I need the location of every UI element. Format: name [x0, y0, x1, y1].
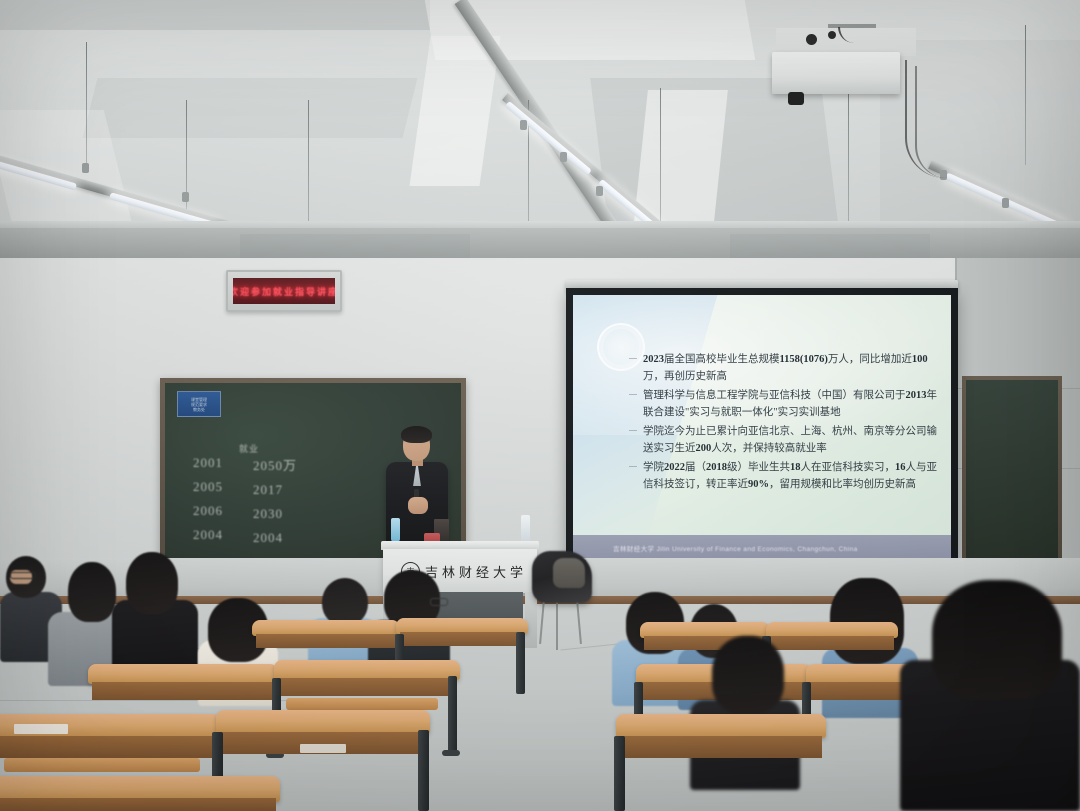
bag-on-chair [553, 558, 585, 588]
desk-leg [614, 736, 625, 811]
slide-emphasis: 2013 [906, 390, 927, 401]
desk-leg [448, 676, 457, 754]
bullet-dash-icon [629, 358, 637, 359]
blackboard-right-panel [962, 376, 1062, 562]
bullet-dash-icon [629, 466, 637, 467]
blackboard-right-surface [966, 380, 1058, 558]
classroom-photo: 欢迎参加就业指导讲座 课堂管理规范要求教务处 就业 2001 2005 2006… [0, 0, 1080, 811]
lecture-desk-front [256, 634, 396, 648]
podium-university-name: 吉林财经大学 [425, 562, 527, 581]
chalk-right-column: 2050万 2017 2030 2004 [253, 455, 297, 546]
lecture-desk-front [278, 678, 456, 696]
podium-leg [525, 592, 537, 648]
chalk-header: 就业 [239, 442, 259, 455]
paper-sheet [14, 724, 68, 734]
desk-foot [442, 750, 460, 756]
light-clamp [560, 152, 567, 162]
chair-leg [556, 600, 558, 650]
eyeglasses-icon [430, 598, 448, 606]
fluorescent-tube [505, 101, 592, 176]
chalk-value: 2030 [253, 506, 297, 522]
lecture-desk [216, 710, 430, 734]
projector [772, 52, 900, 94]
slide-text: 级）毕业生共 [727, 462, 790, 473]
slide-bullet: 管理科学与信息工程学院与亚信科技（中国）有限公司于2013年联合建设"实习与就职… [629, 387, 937, 421]
desk-book-shelf [4, 758, 200, 772]
slide-text: 管理科学与信息工程学院与亚信科技（中国）有限公司于 [643, 390, 906, 401]
led-banner-sign: 欢迎参加就业指导讲座 [226, 270, 342, 312]
presenter-hair [401, 426, 432, 443]
light-hanger-wire [848, 90, 849, 240]
slide-bullet: 学院迄今为止已累计向亚信北京、上海、杭州、南京等分公司输送实习生近200人次，并… [629, 423, 937, 457]
lecture-desk-front [770, 636, 894, 650]
light-clamp [82, 163, 89, 173]
chalk-value: 2006 [193, 503, 223, 519]
light-hanger-wire [86, 42, 87, 167]
light-hanger-wire [308, 100, 309, 240]
led-banner-text: 欢迎参加就业指导讲座 [233, 285, 335, 298]
slide-text: 万，再创历史新高 [643, 371, 727, 382]
presentation-slide: 2023届全国高校毕业生总规模1158(1076)万人，同比增加近100万，再创… [573, 295, 951, 561]
slide-text: 届全国高校毕业生总规模 [664, 354, 780, 365]
slide-bullet-list: 2023届全国高校毕业生总规模1158(1076)万人，同比增加近100万，再创… [629, 351, 937, 495]
water-bottle [391, 518, 400, 542]
chalk-value: 2004 [253, 530, 297, 546]
slide-emphasis: 2023 [643, 354, 664, 365]
desk-leg [516, 632, 525, 694]
bullet-dash-icon [629, 430, 637, 431]
projector-knob [806, 34, 817, 45]
light-clamp [1002, 198, 1009, 208]
chalk-value: 2001 [193, 455, 223, 471]
ceiling-soffit [0, 228, 1080, 262]
lecture-desk-front [92, 682, 274, 700]
paper-sheet [300, 744, 346, 753]
slide-emphasis: 90% [748, 479, 769, 490]
slide-bullet: 2023届全国高校毕业生总规模1158(1076)万人，同比增加近100万，再创… [629, 351, 937, 385]
presenter-hands [408, 497, 428, 514]
slide-emphasis: 2018 [706, 462, 727, 473]
slide-emphasis: 100 [912, 354, 928, 365]
chalk-value: 2005 [193, 479, 223, 495]
slide-text: ，留用规模和比率均创历史新高 [769, 479, 916, 490]
desk-leg [418, 730, 429, 811]
lecture-desk-front [620, 736, 822, 758]
desk-book-shelf [286, 698, 438, 710]
projector-knob [828, 31, 836, 39]
lecture-desk [88, 664, 278, 684]
slide-bullet: 学院2022届（2018级）毕业生共18人在亚信科技实习，16人与亚信科技签订，… [629, 459, 937, 493]
water-bottle [521, 515, 530, 543]
slide-text: 人次，并保持较高就业率 [711, 443, 827, 454]
lecture-desk [616, 714, 826, 738]
slide-emphasis: 200 [696, 443, 712, 454]
blackboard-sticker-text: 课堂管理规范要求教务处 [191, 397, 207, 412]
lecture-desk [274, 660, 460, 680]
chalk-value: 2050万 [253, 455, 297, 474]
slide-footer-text: 吉林财经大学 Jilin University of Finance and E… [573, 543, 858, 553]
chalk-value: 2004 [193, 527, 223, 543]
slide-text: 学院 [643, 462, 664, 473]
slide-text: 人在亚信科技实习， [801, 462, 896, 473]
chalk-left-column: 2001 2005 2006 2004 [193, 455, 223, 543]
lecture-desk-front [400, 632, 524, 646]
light-hanger-wire [660, 88, 661, 240]
light-clamp [596, 186, 603, 196]
projection-screen: 2023届全国高校毕业生总规模1158(1076)万人，同比增加近100万，再创… [566, 288, 958, 568]
eyeglasses-icon [10, 572, 36, 579]
lecture-desk-front [0, 798, 276, 811]
led-screen: 欢迎参加就业指导讲座 [233, 278, 335, 304]
slide-emphasis: 1158(1076) [780, 354, 828, 365]
blackboard-notice-sticker: 课堂管理规范要求教务处 [177, 391, 221, 417]
lecture-desk-front [0, 736, 216, 758]
slide-text: 万人，同比增加近 [828, 354, 912, 365]
ceiling [0, 0, 1080, 258]
projector-lens [788, 92, 804, 105]
chalk-value: 2017 [253, 482, 297, 498]
slide-text: 届（ [685, 462, 706, 473]
light-clamp [182, 192, 189, 202]
slide-emphasis: 2022 [664, 462, 685, 473]
slide-emphasis: 18 [790, 462, 801, 473]
light-clamp [520, 120, 527, 130]
projector-signal-cable [915, 66, 947, 178]
bullet-dash-icon [629, 394, 637, 395]
slide-emphasis: 16 [895, 462, 906, 473]
light-hanger-wire [1025, 25, 1026, 165]
